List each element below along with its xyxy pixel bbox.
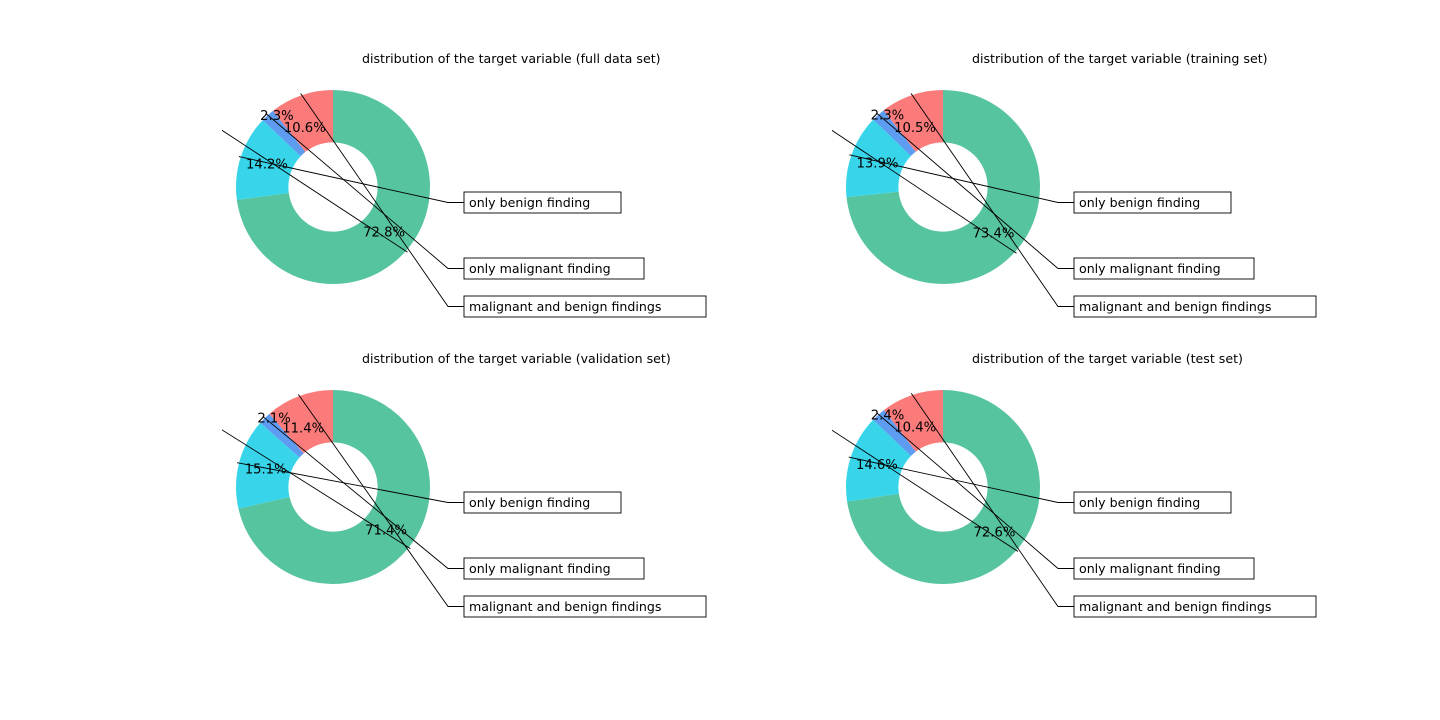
- panel-title: distribution of the target variable (tes…: [972, 351, 1243, 366]
- slice-percent-malignant_and_benign_findings: 11.4%: [282, 421, 324, 436]
- figure-canvas: distribution of the target variable (ful…: [0, 0, 1440, 720]
- category-label-only_malignant_finding: only malignant finding: [469, 261, 611, 276]
- category-label-malignant_and_benign_findings: malignant and benign findings: [469, 599, 661, 614]
- category-label-only_malignant_finding: only malignant finding: [469, 561, 611, 576]
- category-label-only_benign_finding: only benign finding: [1079, 495, 1200, 510]
- slice-percent-no_finding: 72.6%: [974, 525, 1016, 540]
- slice-percent-no_finding: 72.8%: [363, 226, 405, 241]
- category-label-malignant_and_benign_findings: malignant and benign findings: [1079, 599, 1271, 614]
- category-label-malignant_and_benign_findings: malignant and benign findings: [1079, 299, 1271, 314]
- panel-title: distribution of the target variable (tra…: [972, 51, 1268, 66]
- category-label-only_malignant_finding: only malignant finding: [1079, 561, 1221, 576]
- slice-percent-only_benign_finding: 15.1%: [245, 462, 287, 477]
- panel-title: distribution of the target variable (ful…: [362, 51, 661, 66]
- category-label-malignant_and_benign_findings: malignant and benign findings: [469, 299, 661, 314]
- category-label-only_benign_finding: only benign finding: [469, 495, 590, 510]
- category-label-only_benign_finding: only benign finding: [469, 195, 590, 210]
- panel-title: distribution of the target variable (val…: [362, 351, 671, 366]
- donut-chart-panel-test-set: distribution of the target variable (tes…: [832, 340, 1440, 700]
- slice-percent-only_benign_finding: 13.9%: [856, 156, 898, 171]
- slice-percent-no_finding: 71.4%: [365, 523, 407, 538]
- category-label-only_benign_finding: only benign finding: [1079, 195, 1200, 210]
- category-label-only_malignant_finding: only malignant finding: [1079, 261, 1221, 276]
